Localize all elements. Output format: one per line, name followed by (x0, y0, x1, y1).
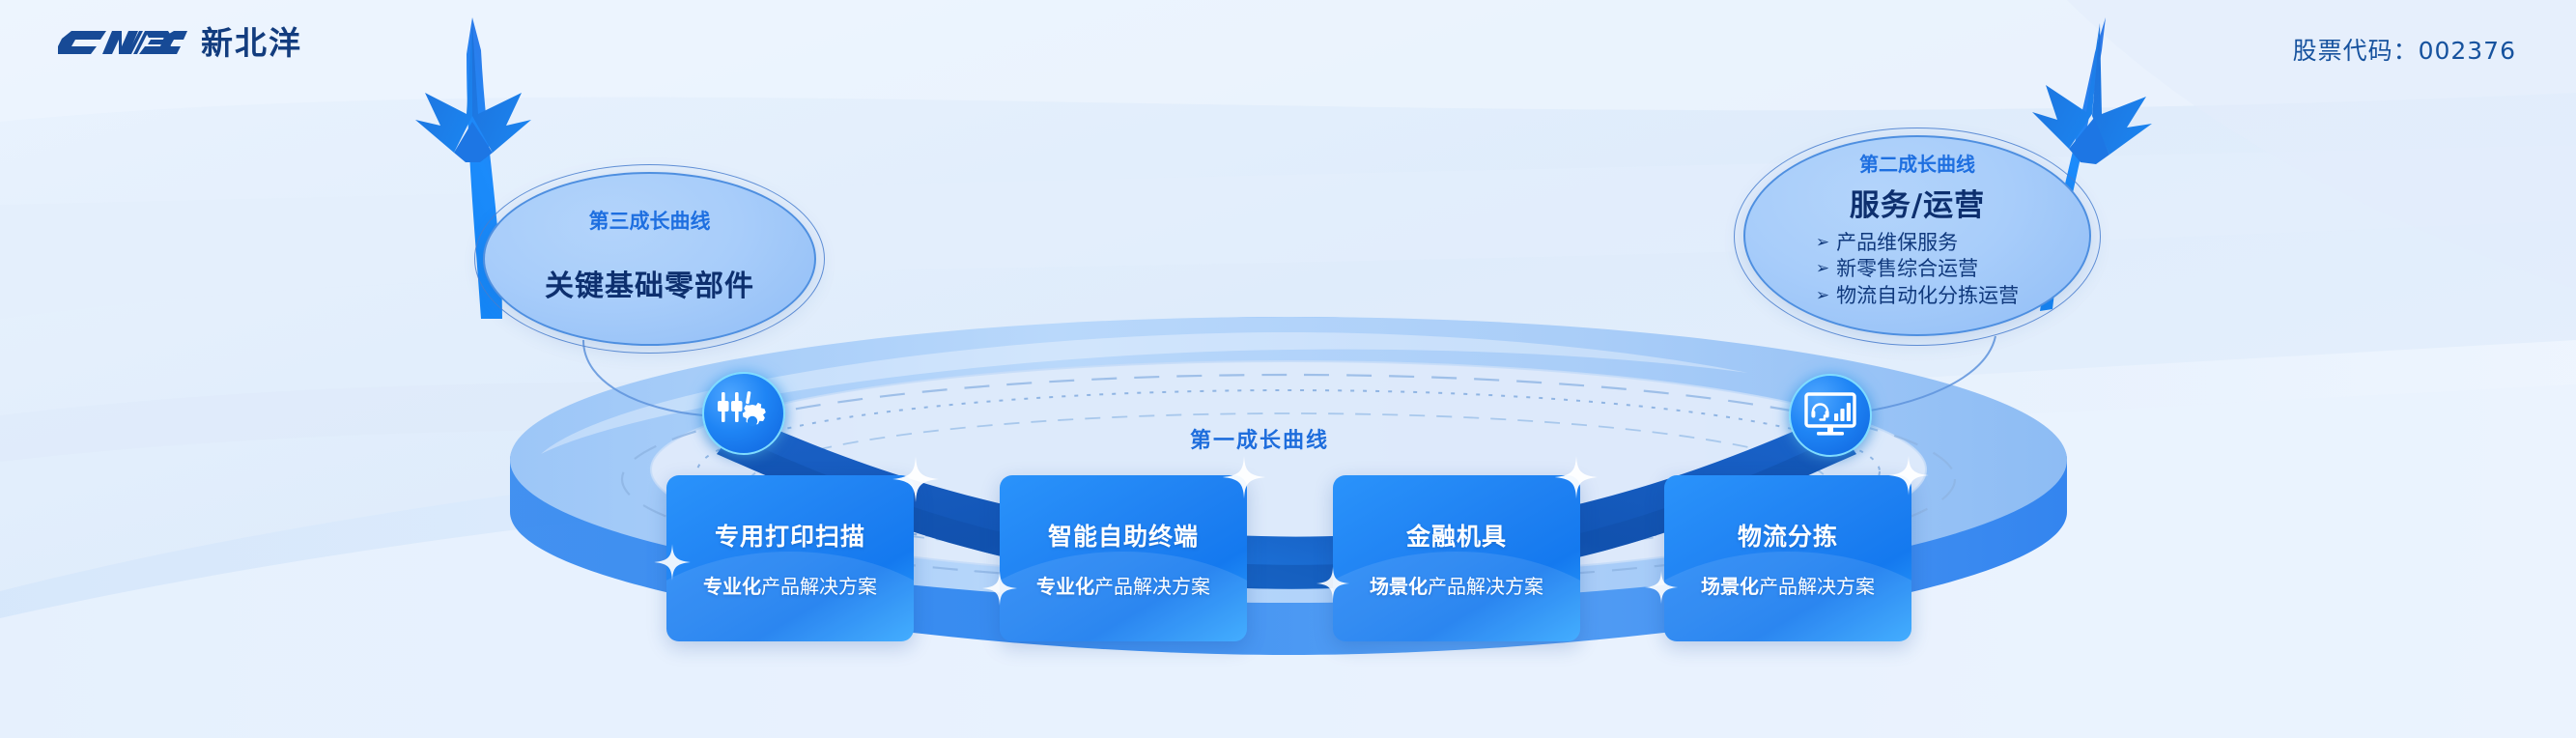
card-description-emphasis: 专业化 (703, 575, 761, 598)
card-description-emphasis: 场景化 (1701, 575, 1759, 598)
monitor-headset-chart-glyph (1804, 392, 1856, 439)
bubble-second-growth-curve[interactable]: 第二成长曲线 服务/运营 ➢ 产品维保服务 ➢ 新零售综合运营 ➢ 物流自动化分… (1743, 135, 2091, 336)
bubble-right-subtitle: 第二成长曲线 (1745, 149, 2089, 177)
card-description-rest: 产品解决方案 (1428, 575, 1543, 598)
product-card-self-service-terminal[interactable]: 智能自助终端 专业化产品解决方案 (1000, 475, 1247, 641)
card-description: 场景化产品解决方案 (1701, 571, 1875, 599)
monitor-headset-chart-icon[interactable] (1789, 374, 1872, 457)
list-item-label: 新零售综合运营 (1836, 256, 1978, 282)
list-item: ➢ 产品维保服务 (1816, 230, 2019, 256)
background-decoration (0, 0, 2576, 738)
arrow-bullet-icon: ➢ (1816, 261, 1829, 277)
card-title: 金融机具 (1406, 518, 1507, 553)
product-card-financial-equipment[interactable]: 金融机具 场景化产品解决方案 (1333, 475, 1580, 641)
bubble-left-title: 关键基础零部件 (485, 262, 814, 304)
list-item-label: 产品维保服务 (1836, 230, 1958, 256)
bubble-right-item-list: ➢ 产品维保服务 ➢ 新零售综合运营 ➢ 物流自动化分拣运营 (1816, 230, 2019, 309)
brand-logo: 新北洋 (52, 21, 302, 64)
components-gear-icon[interactable] (702, 372, 785, 455)
arrow-bullet-icon: ➢ (1816, 235, 1829, 251)
bubble-third-growth-curve[interactable]: 第三成长曲线 关键基础零部件 (483, 172, 816, 346)
list-item: ➢ 新零售综合运营 (1816, 256, 2019, 282)
list-item-label: 物流自动化分拣运营 (1836, 283, 2019, 309)
infographic-canvas: 新北洋 股票代码：002376 第三成长曲线 关键基础零部件 第二成长曲线 服务… (0, 0, 2576, 738)
components-gear-glyph (717, 389, 771, 438)
card-description-emphasis: 专业化 (1036, 575, 1094, 598)
product-card-printing-scanning[interactable]: 专用打印扫描 专业化产品解决方案 (666, 475, 914, 641)
card-description-emphasis: 场景化 (1370, 575, 1428, 598)
card-description-rest: 产品解决方案 (1759, 575, 1875, 598)
bubble-right-title: 服务/运营 (1745, 181, 2089, 224)
bubble-left-subtitle: 第三成长曲线 (485, 206, 814, 235)
stock-code-label: 股票代码：002376 (2293, 32, 2516, 67)
snbc-logo-icon (52, 21, 187, 64)
card-title: 专用打印扫描 (715, 518, 865, 553)
card-description: 专业化产品解决方案 (703, 571, 877, 599)
card-description: 场景化产品解决方案 (1370, 571, 1543, 599)
card-description-rest: 产品解决方案 (761, 575, 877, 598)
card-description: 专业化产品解决方案 (1036, 571, 1210, 599)
product-card-logistics-sorting[interactable]: 物流分拣 场景化产品解决方案 (1664, 475, 1911, 641)
card-title: 智能自助终端 (1048, 518, 1199, 553)
list-item: ➢ 物流自动化分拣运营 (1816, 283, 2019, 309)
first-growth-curve-label: 第一成长曲线 (1190, 423, 1329, 454)
card-description-rest: 产品解决方案 (1094, 575, 1210, 598)
card-title: 物流分拣 (1738, 518, 1838, 553)
arrow-bullet-icon: ➢ (1816, 288, 1829, 304)
brand-name-cn: 新北洋 (201, 27, 302, 59)
